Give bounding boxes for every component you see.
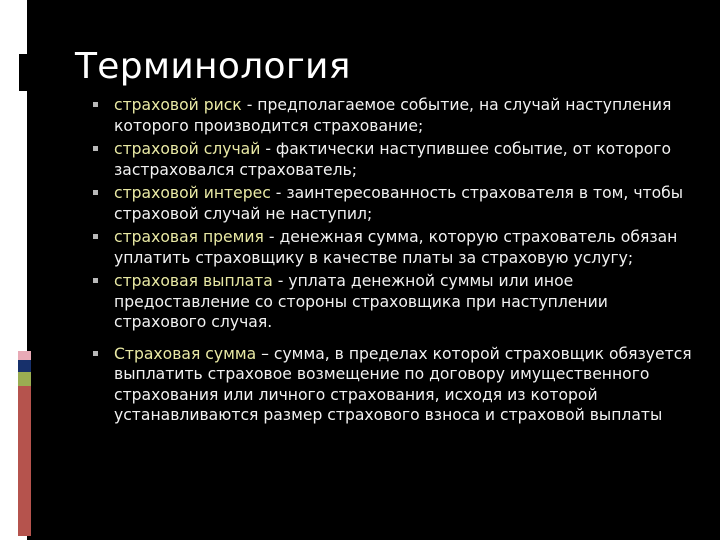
list-item: страховой интерес - заинтересованность с… (85, 183, 705, 224)
term-label: страховая премия (114, 228, 264, 246)
presentation-slide: Терминология страховой риск - предполага… (0, 0, 720, 540)
list-item: страховая выплата - уплата денежной сумм… (85, 271, 705, 333)
bullet-square-icon (93, 351, 98, 356)
bullet-square-icon (93, 278, 98, 283)
bullet-square-icon (93, 146, 98, 151)
list-item: Страховая сумма – сумма, в пределах кото… (85, 344, 705, 426)
left-decorative-band (0, 0, 27, 540)
term-label: страховой случай (114, 140, 260, 158)
list-item: страховой случай - фактически наступивше… (85, 139, 705, 180)
list-item: страховая премия - денежная сумма, котор… (85, 227, 705, 268)
terminology-bullet-list: страховой риск - предполагаемое событие,… (85, 95, 705, 429)
term-label: страховая выплата (114, 272, 273, 290)
slide-title: Терминология (75, 46, 351, 88)
bullet-square-icon (93, 102, 98, 107)
term-label: страховой интерес (114, 184, 271, 202)
bullet-square-icon (93, 190, 98, 195)
term-label: страховой риск (114, 96, 242, 114)
bullet-square-icon (93, 234, 98, 239)
term-label: Страховая сумма (114, 345, 256, 363)
slide-content: Терминология страховой риск - предполага… (28, 0, 720, 540)
list-item: страховой риск - предполагаемое событие,… (85, 95, 705, 136)
